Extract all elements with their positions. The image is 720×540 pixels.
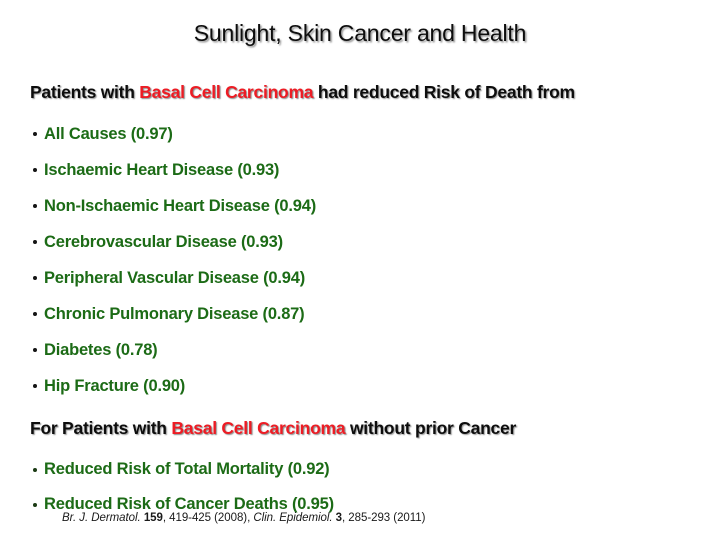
slide-canvas: Sunlight, Skin Cancer and Health Patient…	[0, 0, 720, 540]
list-item: Reduced Risk of Total Mortality (0.92)	[0, 452, 720, 487]
header-two-lead: For Patients with	[30, 418, 171, 438]
list-item: Non-Ischaemic Heart Disease (0.94)	[0, 188, 720, 224]
bullet-point-icon	[33, 348, 37, 352]
section-two-header: For Patients with Basal Cell Carcinoma w…	[30, 418, 516, 439]
list-item: Ischaemic Heart Disease (0.93)	[0, 152, 720, 188]
citation-reference: Br. J. Dermatol. 159, 419-425 (2008), Cl…	[62, 512, 425, 524]
bullet-point-icon	[33, 503, 37, 507]
list-item-label: Hip Fracture (0.90)	[44, 377, 185, 395]
citation-journal-two: Clin. Epidemiol.	[253, 512, 332, 524]
bullet-point-icon	[33, 132, 37, 136]
page-title: Sunlight, Skin Cancer and Health	[0, 20, 720, 47]
citation-pages-one: , 419-425 (2008),	[163, 512, 254, 524]
section-one-header: Patients with Basal Cell Carcinoma had r…	[30, 82, 575, 103]
bullet-point-icon	[33, 312, 37, 316]
list-item: All Causes (0.97)	[0, 116, 720, 152]
list-item: Cerebrovascular Disease (0.93)	[0, 224, 720, 260]
list-item-label: Peripheral Vascular Disease (0.94)	[44, 269, 305, 287]
list-item-label: Cerebrovascular Disease (0.93)	[44, 233, 283, 251]
bullet-point-icon	[33, 168, 37, 172]
section-one-bullet-list: All Causes (0.97) Ischaemic Heart Diseas…	[0, 116, 720, 404]
list-item-label: Reduced Risk of Cancer Deaths (0.95)	[44, 495, 334, 513]
list-item-label: All Causes (0.97)	[44, 125, 173, 143]
header-one-tail: had reduced Risk of Death from	[313, 82, 575, 102]
bullet-point-icon	[33, 276, 37, 280]
list-item: Diabetes (0.78)	[0, 332, 720, 368]
list-item: Hip Fracture (0.90)	[0, 368, 720, 404]
bullet-point-icon	[33, 468, 37, 472]
bullet-point-icon	[33, 204, 37, 208]
header-one-highlight: Basal Cell Carcinoma	[139, 82, 313, 102]
list-item-label: Reduced Risk of Total Mortality (0.92)	[44, 460, 329, 478]
bullet-point-icon	[33, 384, 37, 388]
header-two-tail: without prior Cancer	[345, 418, 516, 438]
bullet-point-icon	[33, 240, 37, 244]
citation-volume-one: 159	[144, 512, 163, 524]
header-one-lead: Patients with	[30, 82, 139, 102]
citation-pages-two: , 285-293 (2011)	[342, 512, 425, 524]
list-item-label: Diabetes (0.78)	[44, 341, 157, 359]
header-two-highlight: Basal Cell Carcinoma	[171, 418, 345, 438]
list-item-label: Non-Ischaemic Heart Disease (0.94)	[44, 197, 316, 215]
list-item: Peripheral Vascular Disease (0.94)	[0, 260, 720, 296]
citation-journal-one: Br. J. Dermatol.	[62, 512, 141, 524]
list-item: Chronic Pulmonary Disease (0.87)	[0, 296, 720, 332]
list-item-label: Chronic Pulmonary Disease (0.87)	[44, 305, 304, 323]
list-item-label: Ischaemic Heart Disease (0.93)	[44, 161, 279, 179]
